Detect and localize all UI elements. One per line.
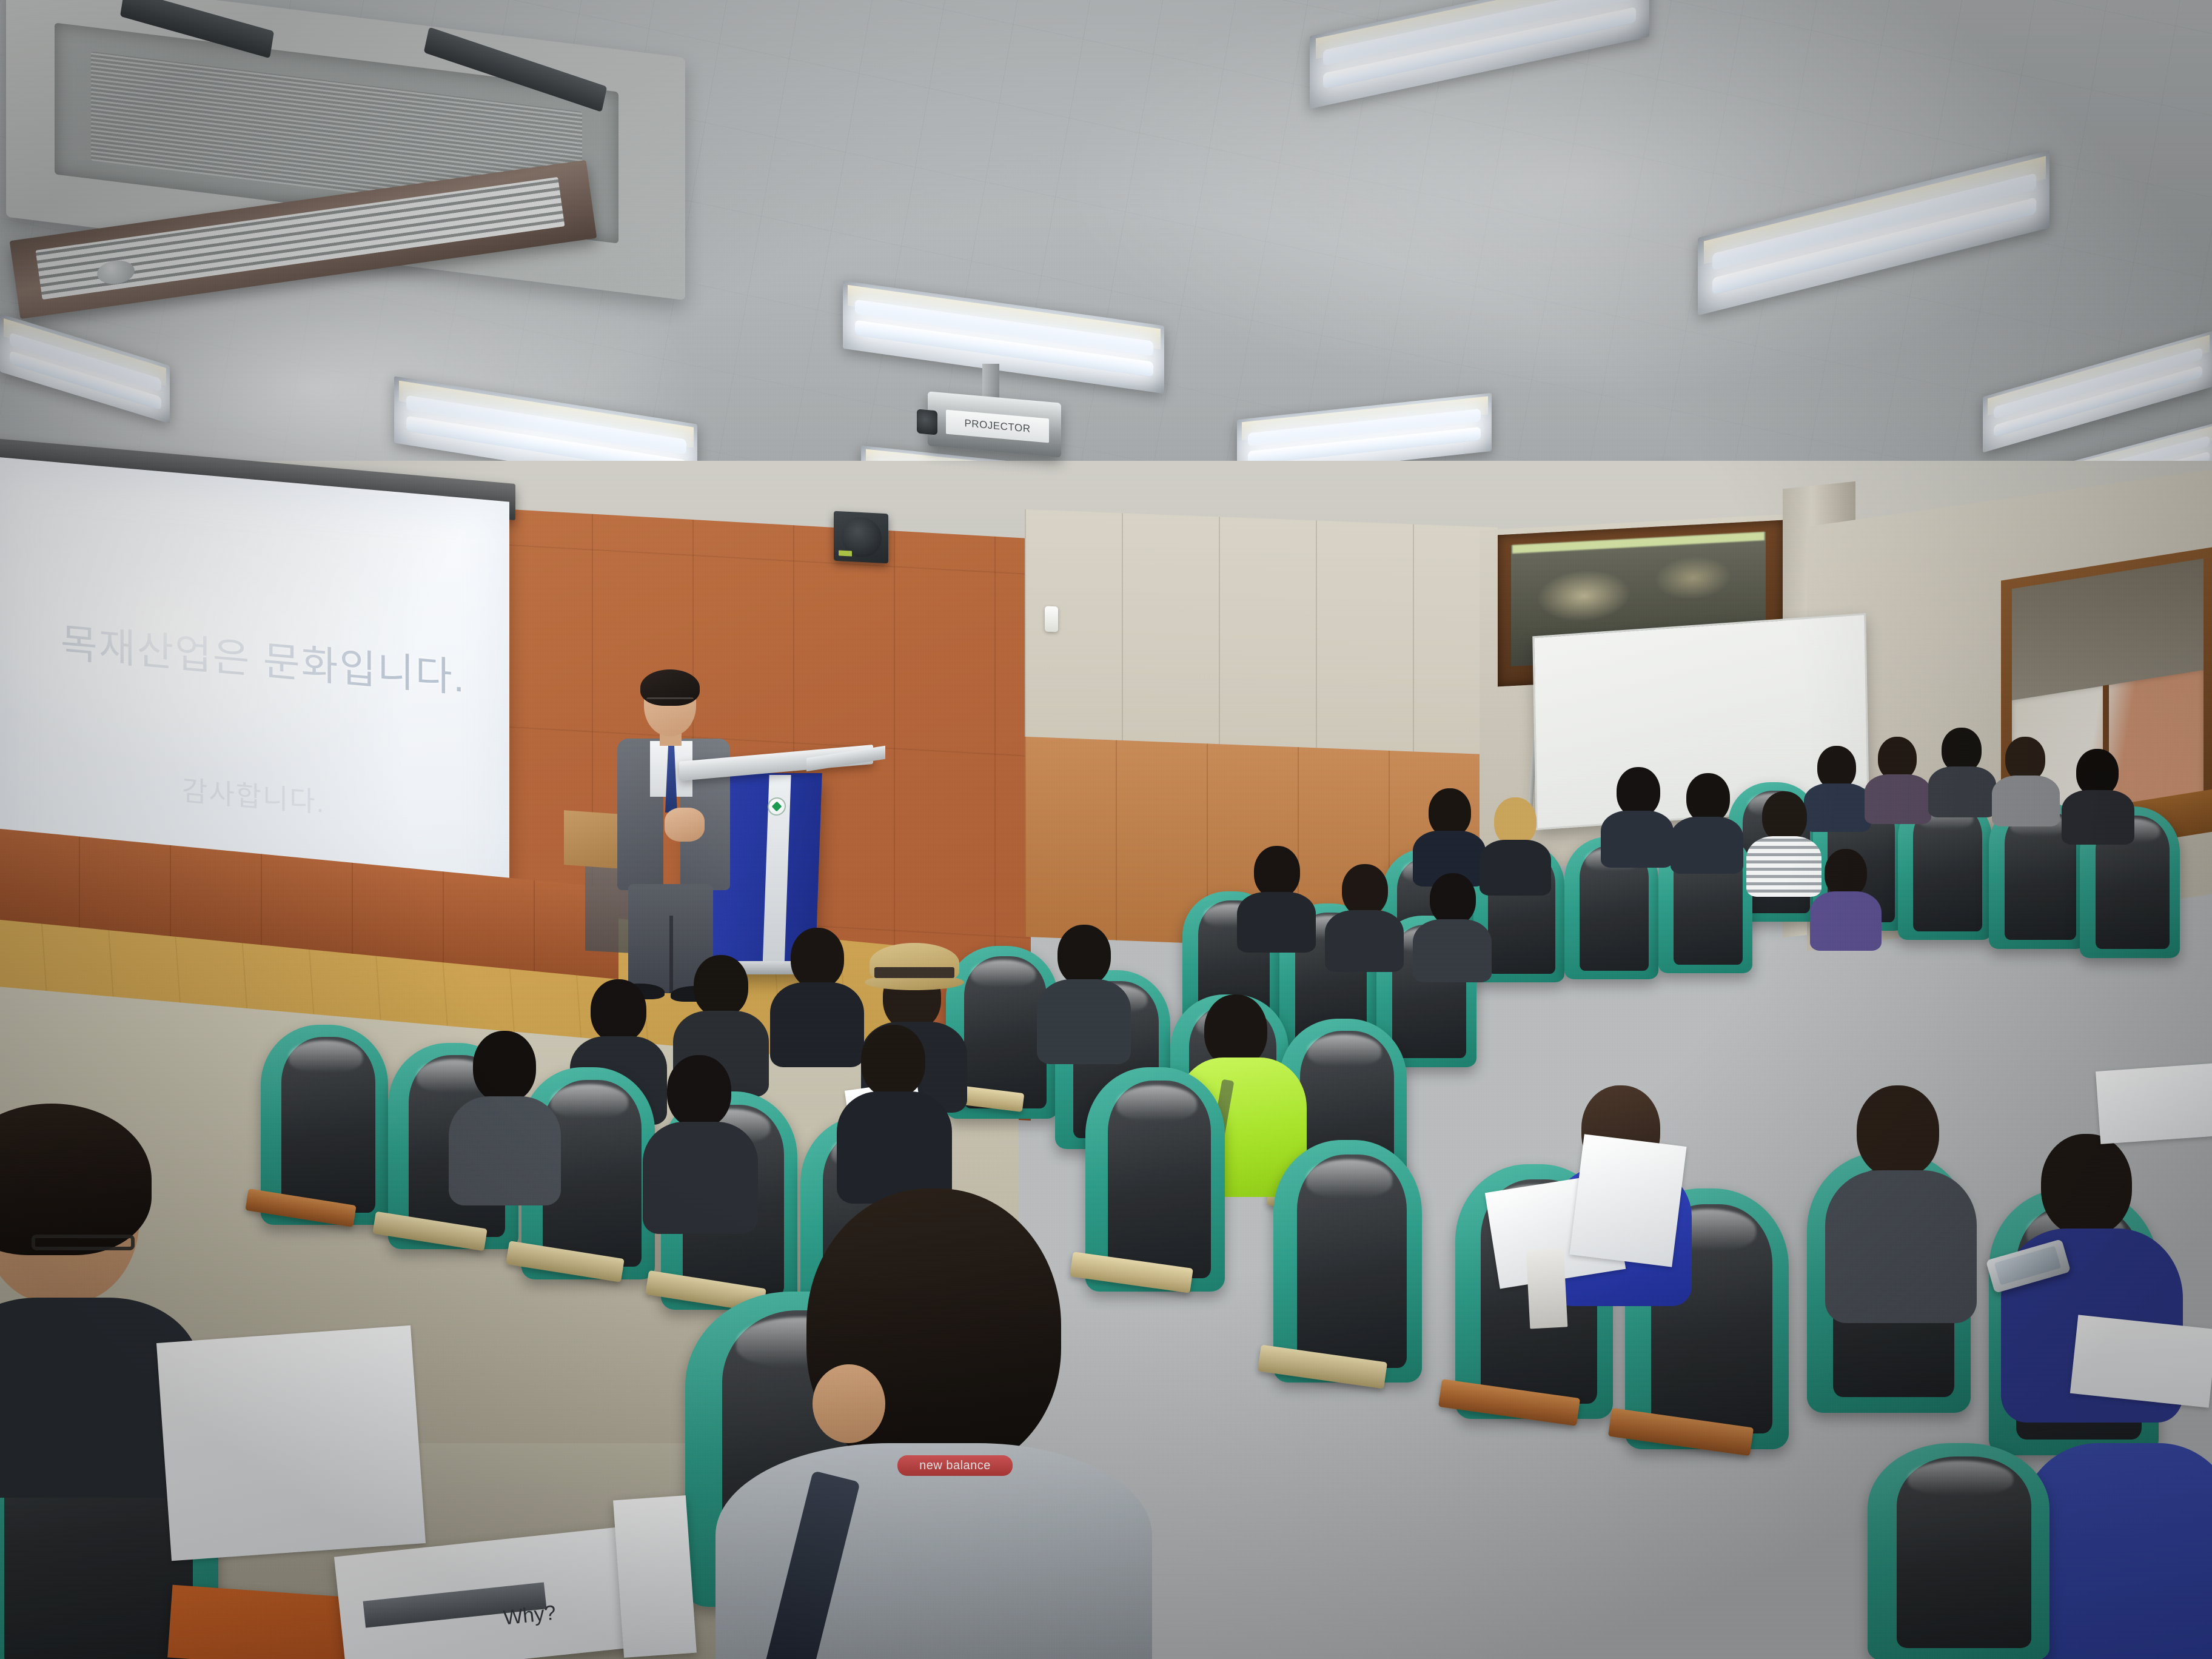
audience-person bbox=[1865, 737, 1931, 819]
audience-person bbox=[1992, 737, 2060, 822]
lecture-hall-photo: 목재산업은 문화입니다. 감사합니다. PROJECTOR bbox=[0, 0, 2212, 1659]
audience-person bbox=[2062, 749, 2134, 840]
drink-carton bbox=[1526, 1248, 1568, 1329]
foreground-person-grey-tshirt: new balance bbox=[716, 1188, 1152, 1659]
glasses-icon bbox=[32, 1235, 135, 1250]
seat[interactable] bbox=[1273, 1140, 1422, 1382]
audience-person bbox=[1671, 773, 1743, 867]
audience-person bbox=[1413, 873, 1492, 976]
hair bbox=[0, 1104, 152, 1255]
seat[interactable] bbox=[261, 1025, 388, 1225]
paper-stack bbox=[156, 1326, 426, 1561]
audience-person bbox=[1237, 846, 1316, 946]
ear bbox=[813, 1364, 885, 1443]
audience-person bbox=[1037, 925, 1131, 1058]
wall-speaker-badge bbox=[839, 550, 852, 556]
audience-person bbox=[837, 1025, 952, 1201]
tshirt-brand-label: new balance bbox=[897, 1455, 1013, 1476]
paper-sheet bbox=[2096, 1063, 2212, 1144]
audience-person bbox=[1825, 1085, 1977, 1322]
projector-lens bbox=[917, 409, 937, 435]
presenter-hands bbox=[665, 808, 705, 842]
paper-sheet bbox=[1569, 1134, 1686, 1267]
glasses-icon bbox=[646, 697, 694, 706]
audience-person bbox=[1413, 788, 1486, 879]
paper-sheet bbox=[2070, 1315, 2212, 1407]
fedora-band bbox=[874, 967, 954, 978]
audience-person bbox=[1601, 767, 1674, 861]
brochure-card bbox=[613, 1495, 697, 1658]
audience-person bbox=[1928, 728, 1996, 813]
seat[interactable] bbox=[1868, 1443, 2049, 1659]
presenter bbox=[606, 673, 752, 988]
audience-person-purple bbox=[1810, 849, 1882, 946]
wall-control-panel-icon[interactable] bbox=[1045, 606, 1058, 632]
audience-person bbox=[449, 1031, 561, 1201]
audience-person bbox=[1325, 864, 1404, 966]
